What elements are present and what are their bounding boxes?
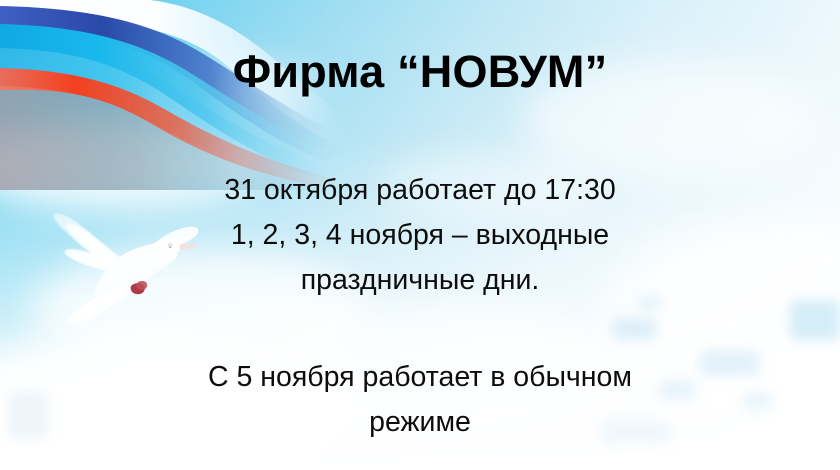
page-title: Фирма “НОВУМ” — [0, 46, 840, 98]
announcement-slide: Фирма “НОВУМ” 31 октября работает до 17:… — [0, 0, 840, 470]
announcement-line: 31 октября работает до 17:30 — [0, 168, 840, 213]
announcement-line: 1, 2, 3, 4 ноября – выходные — [0, 213, 840, 258]
announcement-line: режиме — [0, 400, 840, 445]
announcement-block-one: 31 октября работает до 17:30 1, 2, 3, 4 … — [0, 168, 840, 303]
announcement-block-two: С 5 ноября работает в обычном режиме — [0, 355, 840, 445]
announcement-line: С 5 ноября работает в обычном — [0, 355, 840, 400]
announcement-line: праздничные дни. — [0, 258, 840, 303]
